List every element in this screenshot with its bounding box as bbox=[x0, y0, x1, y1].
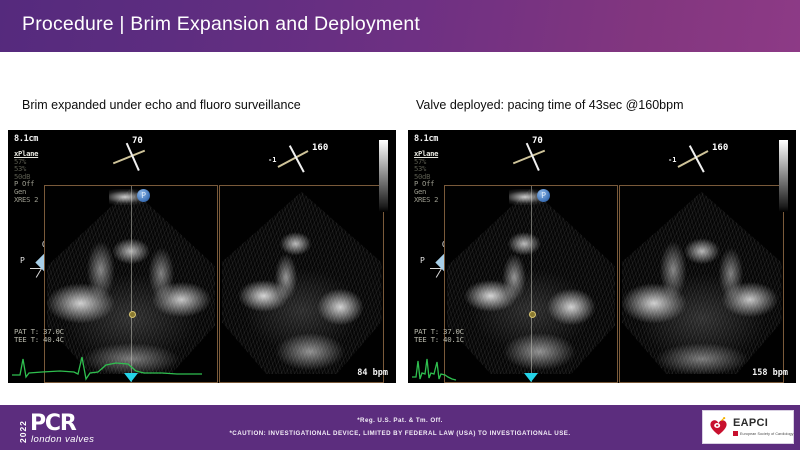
heart-icon-svg bbox=[708, 417, 729, 437]
eapci-text-block: EAPCI European Society of Cardiology bbox=[733, 418, 794, 436]
legal-caution-note: *CAUTION: INVESTIGATIONAL DEVICE, LIMITE… bbox=[0, 430, 800, 437]
page-title: Procedure | Brim Expansion and Deploymen… bbox=[22, 13, 420, 36]
param-xres-right: XRES 2 bbox=[414, 196, 438, 204]
scanner-params-right: xPlane 57% 53% 50dB P Off Gen XRES 2 bbox=[414, 150, 438, 203]
probe-temp-right: TEE T: 40.1C bbox=[414, 336, 464, 345]
ultrasound-panel-left: 8.1cm xPlane 57% 53% 50dB P Off Gen XRES… bbox=[8, 130, 396, 383]
angle-value-primary-right: 70 bbox=[532, 136, 543, 146]
catheter-marker-left bbox=[129, 311, 136, 318]
orientation-label-left-right: P bbox=[420, 256, 425, 265]
sector-fan-secondary-right bbox=[622, 188, 782, 374]
caption-left: Brim expanded under echo and fluoro surv… bbox=[22, 98, 301, 112]
depth-readout-right: 8.1cm bbox=[414, 134, 438, 144]
temperature-readouts-right: PAT T: 37.0C TEE T: 40.1C bbox=[414, 328, 464, 345]
angle-line-plane-left bbox=[113, 150, 145, 165]
probe-badge-left: P bbox=[137, 189, 150, 202]
speckle-texture bbox=[622, 188, 782, 374]
angle-indicator-secondary-left: 160 -1 bbox=[270, 140, 342, 174]
probe-badge-right: P bbox=[537, 189, 550, 202]
angle-indicator-primary-left: 70 bbox=[104, 138, 164, 172]
probe-temp-left: TEE T: 40.4C bbox=[14, 336, 64, 345]
angle-value-primary-left: 70 bbox=[132, 136, 143, 146]
angle-value-secondary-left: 160 bbox=[312, 143, 328, 153]
angle-value-secondary-right: 160 bbox=[712, 143, 728, 153]
slide-footer: 2022 PCR london valves *Reg. U.S. Pat. &… bbox=[0, 405, 800, 450]
grayscale-reference-bar-left bbox=[379, 140, 388, 212]
slide-header: Procedure | Brim Expansion and Deploymen… bbox=[0, 0, 800, 52]
legal-trademark-note: *Reg. U.S. Pat. & Tm. Off. bbox=[0, 417, 800, 424]
eapci-society-row: European Society of Cardiology bbox=[733, 431, 794, 436]
catheter-marker-right bbox=[529, 311, 536, 318]
angle-line-plane-right bbox=[513, 150, 545, 165]
grayscale-reference-bar-right bbox=[779, 140, 788, 212]
angle-indicator-primary-right: 70 bbox=[504, 138, 564, 172]
eapci-society-label: European Society of Cardiology bbox=[740, 432, 794, 436]
orientation-label-left-left: P bbox=[20, 256, 25, 265]
heart-rate-right: 158 bpm bbox=[752, 368, 788, 378]
ultrasound-panel-right: 8.1cm xPlane 57% 53% 50dB P Off Gen XRES… bbox=[408, 130, 796, 383]
temperature-readouts-left: PAT T: 37.0C TEE T: 40.4C bbox=[14, 328, 64, 345]
angle-indicator-secondary-right: 160 -1 bbox=[670, 140, 742, 174]
eapci-logo: EAPCI European Society of Cardiology bbox=[702, 410, 794, 444]
angle-value-tilt-right: -1 bbox=[668, 156, 676, 164]
ecg-trace-right bbox=[412, 353, 612, 381]
heart-rate-left: 84 bpm bbox=[357, 368, 388, 378]
esc-square-icon bbox=[733, 431, 738, 436]
sector-image-secondary-right bbox=[619, 185, 784, 383]
param-xres-left: XRES 2 bbox=[14, 196, 38, 204]
sector-image-secondary-left bbox=[219, 185, 384, 383]
depth-readout-left: 8.1cm bbox=[14, 134, 38, 144]
scanner-params-left: xPlane 57% 53% 50dB P Off Gen XRES 2 bbox=[14, 150, 38, 203]
ecg-trace-left bbox=[12, 353, 212, 381]
heart-icon bbox=[708, 417, 729, 437]
eapci-wordmark: EAPCI bbox=[733, 418, 794, 429]
angle-value-tilt-left: -1 bbox=[268, 156, 276, 164]
caption-right: Valve deployed: pacing time of 43sec @16… bbox=[416, 98, 683, 112]
speckle-texture bbox=[222, 188, 382, 374]
sector-fan-secondary-left bbox=[222, 188, 382, 374]
